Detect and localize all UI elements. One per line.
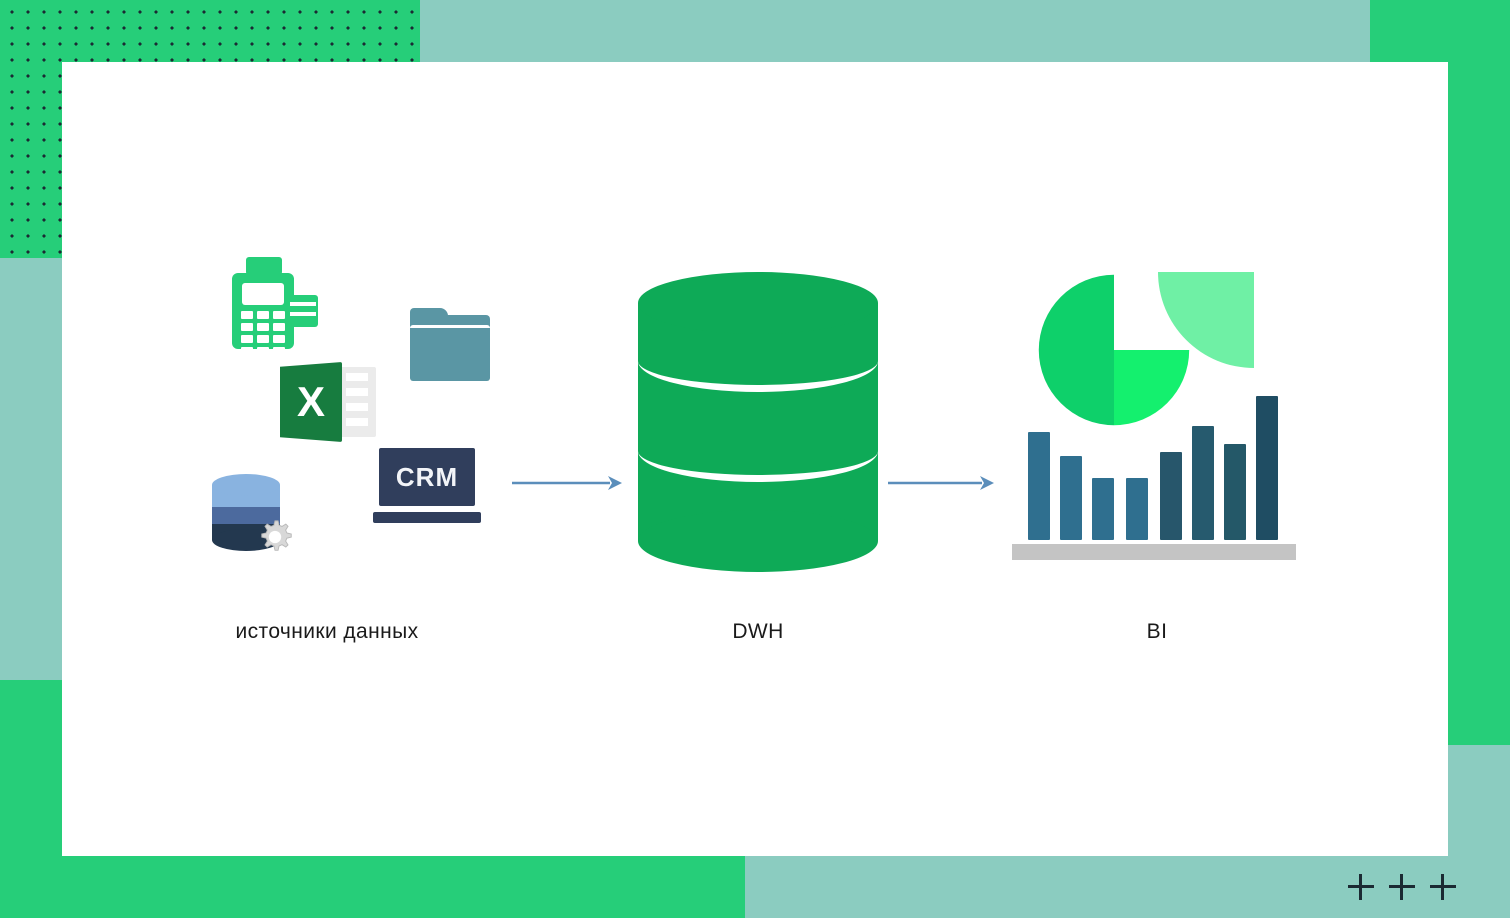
folder-icon — [410, 308, 490, 378]
bar-3 — [1092, 478, 1114, 540]
excel-x-glyph: X — [280, 362, 342, 442]
data-flow-diagram: X CRM источники данных — [62, 62, 1448, 856]
decor-bottom-green-band — [0, 856, 745, 918]
pos-keypad-part — [241, 311, 285, 355]
arrow-dwh-to-bi — [888, 472, 994, 494]
label-bi: BI — [1012, 620, 1302, 644]
gear-icon — [256, 518, 294, 556]
dwh-separator-1 — [638, 330, 878, 392]
dwh-bottom-ellipse — [638, 510, 878, 572]
dwh-top-ellipse — [638, 272, 878, 334]
db-top-ellipse — [212, 474, 280, 496]
bar-7 — [1224, 444, 1246, 540]
pie-slice-light-detached — [1158, 272, 1254, 368]
crm-laptop-icon: CRM — [373, 448, 481, 530]
chart-baseline — [1012, 544, 1296, 560]
pos-terminal-icon — [220, 257, 312, 349]
bar-2 — [1060, 456, 1082, 540]
bar-1 — [1028, 432, 1050, 540]
pos-body-part — [232, 273, 294, 349]
arrow-sources-to-dwh — [512, 472, 622, 494]
decor-right-green-column — [1448, 0, 1510, 745]
decor-plus-marks — [1348, 868, 1456, 906]
pos-card-part — [288, 295, 318, 327]
bar-8 — [1256, 396, 1278, 540]
plus-icon — [1430, 874, 1456, 900]
bi-chart-icon — [1012, 270, 1302, 560]
decor-top-teal-band — [420, 0, 1370, 62]
excel-icon: X — [280, 362, 376, 442]
pos-screen-part — [242, 283, 284, 305]
pie-slice-dark — [1039, 275, 1114, 425]
crm-label: CRM — [379, 448, 475, 506]
folder-front-part — [410, 325, 490, 381]
database-gear-icon — [210, 474, 294, 558]
crm-screen-part: CRM — [379, 448, 475, 506]
database-cylinder-icon — [638, 272, 878, 572]
plus-icon — [1348, 874, 1374, 900]
dwh-separator-2 — [638, 420, 878, 482]
plus-icon — [1389, 874, 1415, 900]
bar-6 — [1192, 426, 1214, 540]
screenshot-root: X CRM источники данных — [0, 0, 1510, 918]
decor-left-teal-column — [0, 258, 62, 680]
bar-4 — [1126, 478, 1148, 540]
crm-base-part — [373, 512, 481, 523]
label-sources: источники данных — [182, 620, 472, 644]
bar-5 — [1160, 452, 1182, 540]
label-dwh: DWH — [638, 620, 878, 644]
